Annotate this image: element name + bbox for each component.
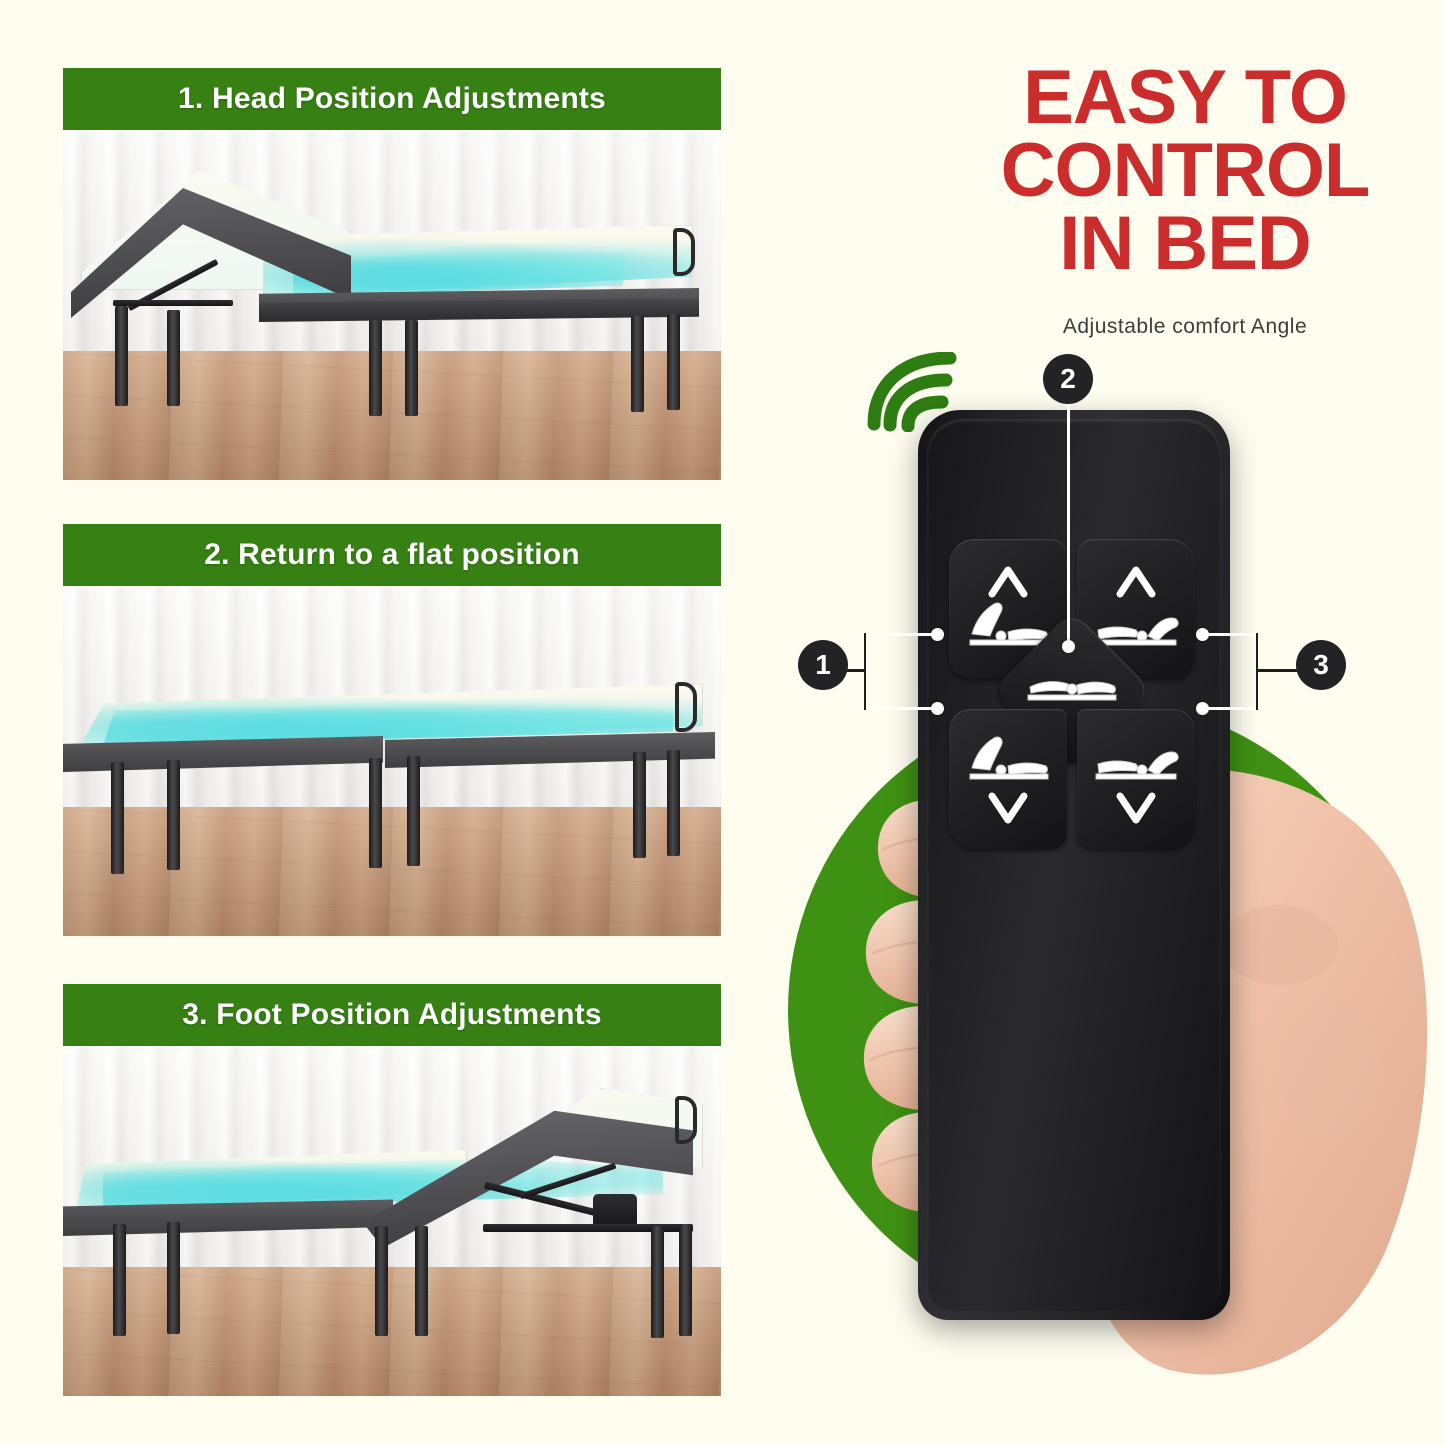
callout-3-line-bottom	[1206, 707, 1258, 710]
callout-badge-3: 3	[1296, 640, 1346, 690]
infographic-canvas: 1. Head Position Adjustments	[0, 0, 1445, 1445]
callout-badge-1: 1	[798, 640, 848, 690]
bed-leg	[113, 1224, 126, 1336]
bed-leg	[633, 752, 646, 858]
wood-floor	[63, 807, 721, 937]
step-3-title: 3. Foot Position Adjustments	[63, 984, 721, 1046]
bed-head-raised-down-glyph	[956, 718, 1060, 840]
step-2-title: 2. Return to a flat position	[63, 524, 721, 586]
wood-floor	[63, 1267, 721, 1397]
remote-control[interactable]	[918, 410, 1230, 1320]
bed-support-cross	[113, 300, 233, 306]
callout-1-line-bottom	[864, 707, 936, 710]
callout-2-dot	[1062, 640, 1075, 653]
bed-foot-raised-down-glyph	[1084, 718, 1188, 840]
page-subtitle: Adjustable comfort Angle	[960, 315, 1410, 339]
step-panel-2: 2. Return to a flat position	[63, 524, 721, 936]
bed-leg	[369, 320, 382, 416]
step-panel-3: 3. Foot Position Adjustments	[63, 984, 721, 1396]
callout-badge-2: 2	[1043, 354, 1093, 404]
step-3-photo	[63, 1046, 721, 1396]
callout-2-line	[1067, 404, 1070, 644]
mattress-retainer-bar	[673, 228, 695, 276]
button-foot-down[interactable]	[1077, 709, 1195, 849]
step-panel-1: 1. Head Position Adjustments	[63, 68, 721, 480]
bed-flat-glyph	[1024, 669, 1120, 713]
bed-leg	[167, 1222, 180, 1334]
bed-leg	[111, 762, 124, 874]
bed-leg	[679, 1224, 692, 1336]
button-head-down[interactable]	[949, 709, 1067, 849]
callout-3-line-top	[1206, 633, 1258, 636]
callout-3-bracket-stub	[1256, 669, 1300, 672]
step-1-photo	[63, 130, 721, 480]
step-2-photo	[63, 586, 721, 936]
callout-1-line-top	[864, 633, 936, 636]
bed-leg	[167, 310, 180, 406]
headline-line-2: CONTROL	[960, 135, 1410, 208]
headline-line-3: IN BED	[960, 208, 1410, 281]
bed-leg	[167, 760, 180, 870]
bed-leg	[651, 1226, 664, 1338]
bed-leg	[405, 320, 418, 416]
mattress-retainer-bar	[675, 1096, 697, 1144]
bed-leg	[369, 758, 382, 868]
headline-line-1: EASY TO	[960, 62, 1410, 135]
mattress-retainer-bar	[675, 682, 697, 732]
bed-leg	[115, 306, 128, 406]
bed-leg	[407, 756, 420, 866]
callout-1-bracket-stub	[845, 669, 866, 672]
remote-faceplate	[927, 419, 1221, 1311]
bed-leg	[667, 314, 680, 410]
bed-leg	[667, 750, 680, 856]
step-1-title: 1. Head Position Adjustments	[63, 68, 721, 130]
bed-leg	[375, 1226, 388, 1336]
wood-floor	[63, 351, 721, 481]
page-headline: EASY TO CONTROL IN BED	[960, 62, 1410, 281]
bed-leg	[631, 316, 644, 412]
bed-leg	[415, 1226, 428, 1336]
